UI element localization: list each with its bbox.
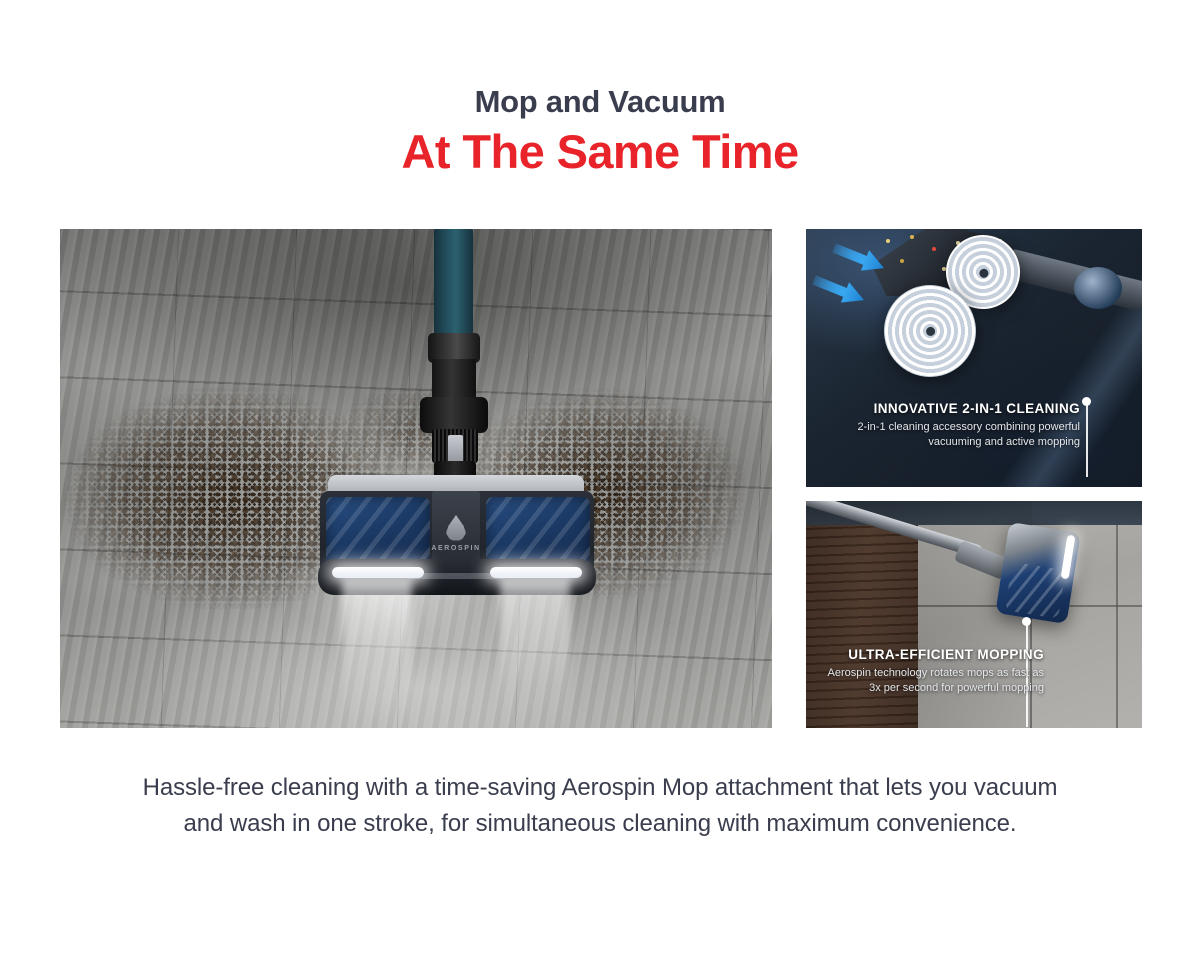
led-light-left xyxy=(332,567,424,578)
wand-lower-section xyxy=(432,359,476,401)
marker-line xyxy=(1086,405,1088,477)
body-paragraph: Hassle-free cleaning with a time-saving … xyxy=(140,770,1060,842)
panel-subtitle: Aerospin technology rotates mops as fast… xyxy=(816,666,1044,696)
led-light-right xyxy=(490,567,582,578)
feature-panel-innovative-cleaning: INNOVATIVE 2-IN-1 CLEANING 2-in-1 cleani… xyxy=(806,229,1142,487)
speck xyxy=(910,235,914,239)
headline-block: Mop and Vacuum At The Same Time xyxy=(0,82,1200,180)
swivel-joint xyxy=(420,397,488,433)
vacuum-wand xyxy=(434,229,473,339)
panel-title: INNOVATIVE 2-IN-1 CLEANING xyxy=(832,401,1080,416)
speck xyxy=(900,259,904,263)
marketing-page: Mop and Vacuum At The Same Time AEROSPIN xyxy=(0,0,1200,969)
accessory-knob xyxy=(1074,267,1122,309)
panel-caption: INNOVATIVE 2-IN-1 CLEANING 2-in-1 cleani… xyxy=(832,401,1080,450)
headline-line-2: At The Same Time xyxy=(0,124,1200,180)
led-beam-left xyxy=(342,579,412,728)
speck xyxy=(886,239,890,243)
panel-caption: ULTRA-EFFICIENT MOPPING Aerospin technol… xyxy=(816,647,1044,696)
panel-subtitle: 2-in-1 cleaning accessory combining powe… xyxy=(832,420,1080,450)
led-beam-right xyxy=(500,579,570,728)
grout-line xyxy=(1116,525,1118,728)
brand-label: AEROSPIN xyxy=(426,545,486,552)
hero-product-image: AEROSPIN xyxy=(60,229,772,728)
panel-title: ULTRA-EFFICIENT MOPPING xyxy=(816,647,1044,662)
feature-panel-ultra-efficient-mopping: ULTRA-EFFICIENT MOPPING Aerospin technol… xyxy=(806,501,1142,728)
speck xyxy=(932,247,936,251)
headline-line-1: Mop and Vacuum xyxy=(0,82,1200,122)
